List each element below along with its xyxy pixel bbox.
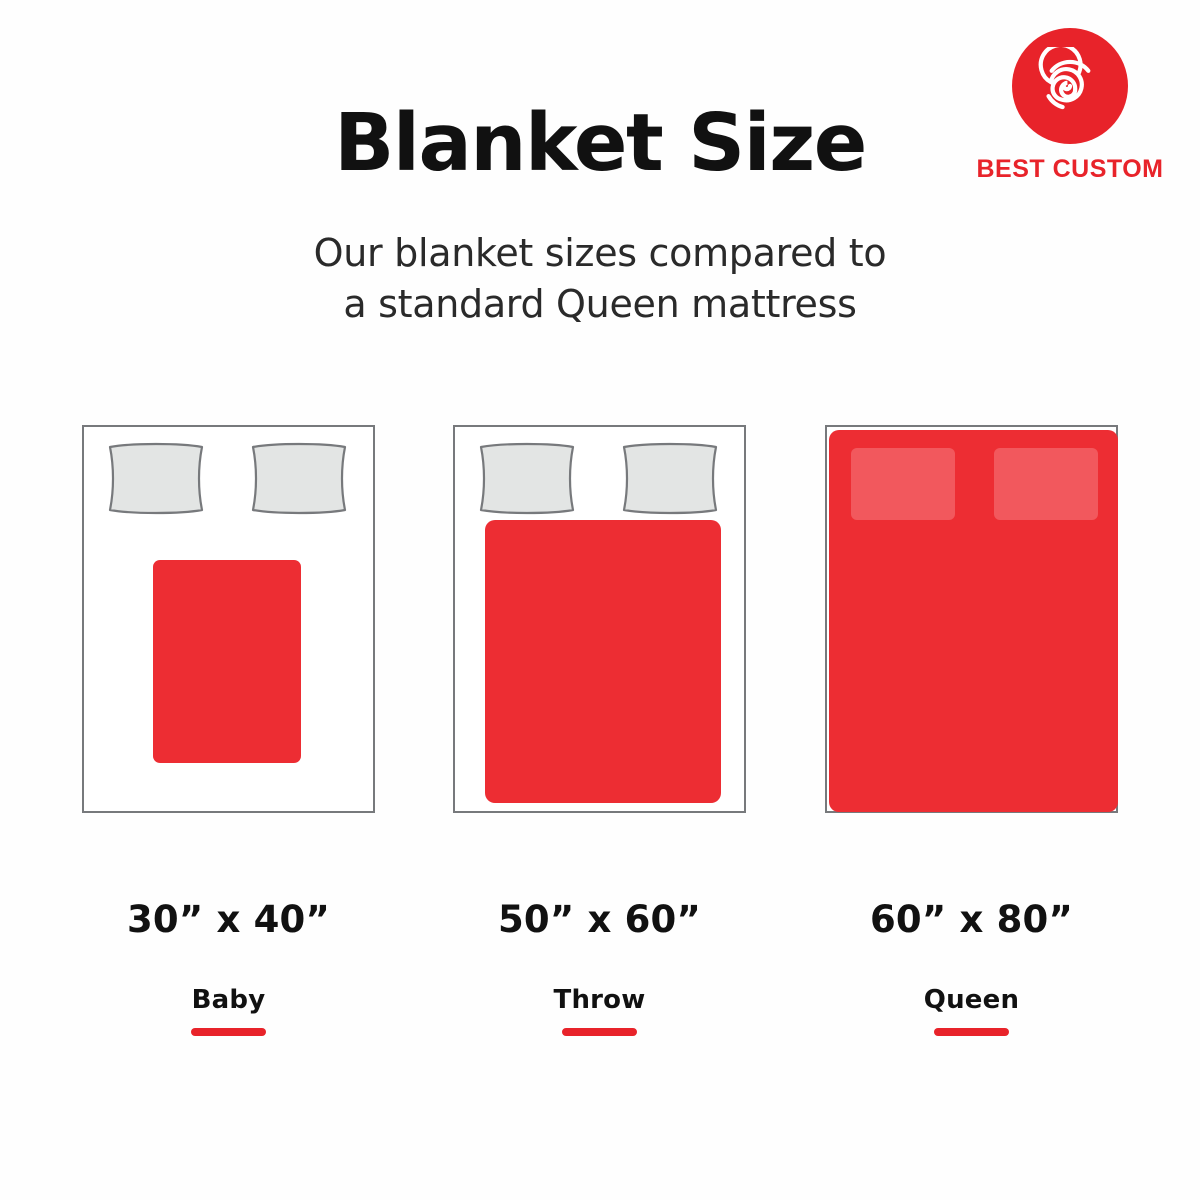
size-name-label: Queen [825, 985, 1118, 1015]
mattress-outline [82, 425, 375, 813]
dimensions-label: 60” x 80” [825, 898, 1118, 941]
pillow-right-icon [247, 442, 351, 515]
infographic-canvas: BEST CUSTOM Blanket Size Our blanket siz… [0, 0, 1200, 1200]
pillow-right-icon [994, 448, 1098, 520]
blanket-shape-queen [829, 430, 1118, 812]
blanket-shape-baby [153, 560, 301, 763]
pillow-left-icon [851, 448, 955, 520]
accent-underline [934, 1028, 1009, 1036]
pillow-left-icon [104, 442, 208, 515]
dimensions-label: 30” x 40” [82, 898, 375, 941]
bed-diagram-queen [825, 425, 1118, 813]
bed-diagram-baby [82, 425, 375, 813]
pillow-right-icon [618, 442, 722, 515]
dimensions-label: 50” x 60” [453, 898, 746, 941]
mattress-outline [453, 425, 746, 813]
bed-diagram-throw [453, 425, 746, 813]
pillow-left-icon [475, 442, 579, 515]
caption-throw: 50” x 60” Throw [453, 898, 746, 1036]
size-name-label: Throw [453, 985, 746, 1015]
accent-underline [562, 1028, 637, 1036]
mattress-outline [825, 425, 1118, 813]
accent-underline [191, 1028, 266, 1036]
size-name-label: Baby [82, 985, 375, 1015]
caption-baby: 30” x 40” Baby [82, 898, 375, 1036]
blanket-shape-throw [485, 520, 721, 803]
caption-queen: 60” x 80” Queen [825, 898, 1118, 1036]
